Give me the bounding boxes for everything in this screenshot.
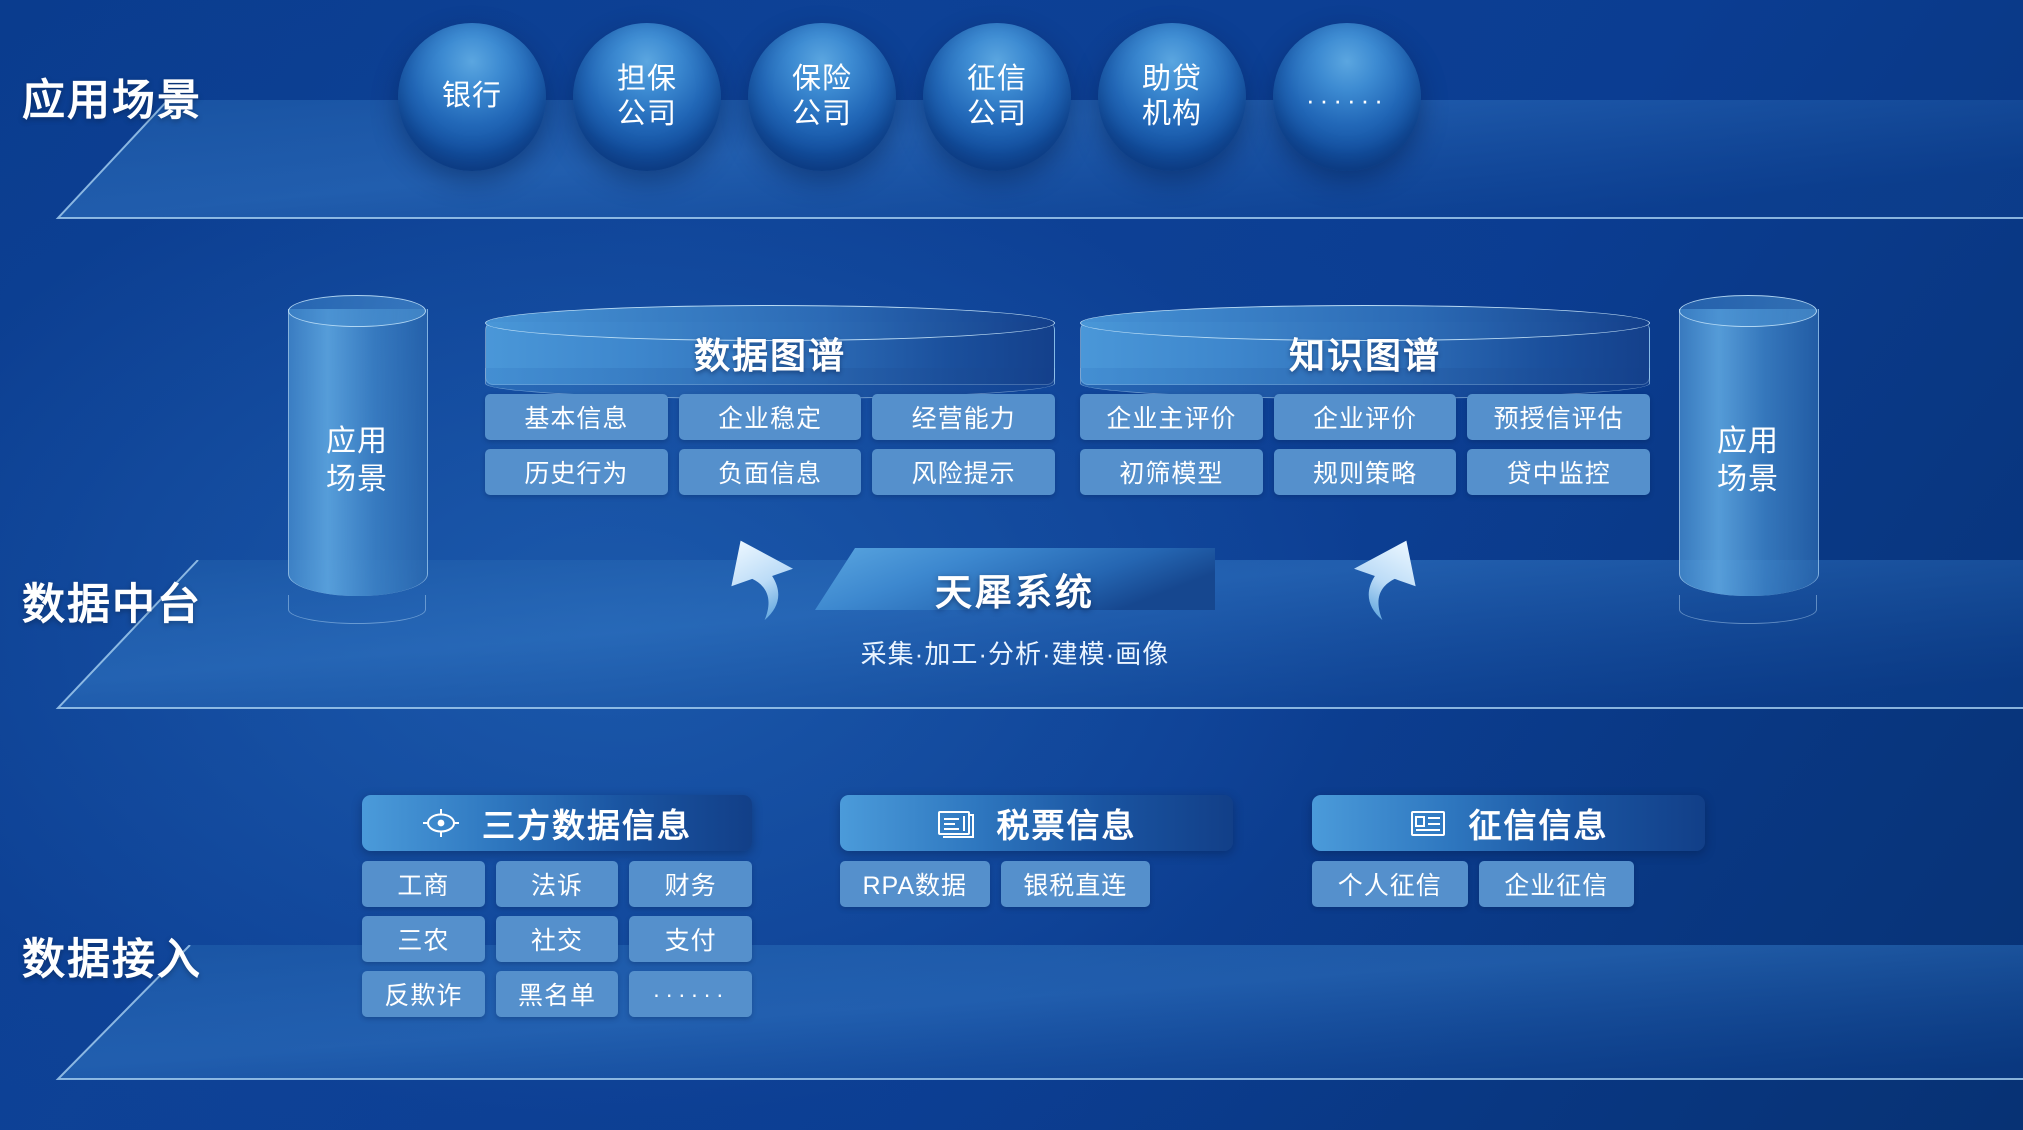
sphere-label-line2: 公司: [617, 97, 677, 132]
tag-grid-knowledge-graph: 企业主评价 企业评价 预授信评估 初筛模型 规则策略 贷中监控: [1080, 394, 1650, 495]
core-shape: 天犀系统: [815, 548, 1215, 620]
sphere-guarantee-company[interactable]: 担保 公司: [573, 23, 721, 171]
tag-blacklist[interactable]: 黑名单: [496, 971, 619, 1017]
group-title: 三方数据信息: [482, 799, 692, 847]
arrow-up-right-icon: [1325, 525, 1435, 625]
arrow-up-left-icon: [712, 525, 822, 625]
tag-operating-capability[interactable]: 经营能力: [872, 394, 1055, 440]
invoice-icon: [937, 806, 975, 840]
tag-pre-credit-assessment[interactable]: 预授信评估: [1467, 394, 1650, 440]
tag-personal-credit[interactable]: 个人征信: [1312, 861, 1468, 907]
tag-litigation[interactable]: 法诉: [496, 861, 619, 907]
pillar-label: 应用 场景: [1679, 423, 1817, 500]
layer-label-application: 应用场景: [22, 66, 202, 128]
sphere-label-line2: 机构: [1142, 97, 1202, 132]
layer-label-ingest: 数据接入: [22, 925, 202, 987]
pillar-bottom-arc: [1679, 595, 1817, 624]
sphere-label-line1: ······: [1306, 85, 1388, 117]
tag-enterprise-credit[interactable]: 企业征信: [1479, 861, 1635, 907]
drum-title: 数据图谱: [694, 327, 846, 379]
pillar-cap: [1679, 295, 1817, 327]
core-subtitle: 采集·加工·分析·建模·画像: [775, 634, 1255, 671]
id-card-icon: [1409, 806, 1447, 840]
tag-bank-tax-link[interactable]: 银税直连: [1001, 861, 1151, 907]
sphere-label-line1: 担保: [617, 62, 677, 97]
tag-screening-model[interactable]: 初筛模型: [1080, 449, 1263, 495]
group-tags-tax-invoice: RPA数据 银税直连: [840, 861, 1150, 907]
group-third-party-data: 三方数据信息 工商 法诉 财务 三农 社交 支付 反欺诈 黑名单 ······: [362, 795, 752, 1017]
sphere-label-line1: 保险: [792, 62, 852, 97]
tag-grid-data-graph: 基本信息 企业稳定 经营能力 历史行为 负面信息 风险提示: [485, 394, 1055, 495]
left-application-pillar: 应用 场景: [288, 295, 426, 610]
core-system[interactable]: 天犀系统 采集·加工·分析·建模·画像: [815, 548, 1215, 620]
tag-payment[interactable]: 支付: [629, 916, 752, 962]
group-tags-third-party-data: 工商 法诉 财务 三农 社交 支付 反欺诈 黑名单 ······: [362, 861, 752, 1017]
drum-data-graph[interactable]: 数据图谱: [485, 322, 1055, 385]
tag-negative-info[interactable]: 负面信息: [679, 449, 862, 495]
tag-anti-fraud[interactable]: 反欺诈: [362, 971, 485, 1017]
tag-business-registration[interactable]: 工商: [362, 861, 485, 907]
group-credit-report: 征信信息 个人征信 企业征信: [1312, 795, 1705, 907]
drum-title: 知识图谱: [1289, 327, 1441, 379]
tag-history-behavior[interactable]: 历史行为: [485, 449, 668, 495]
group-tags-credit-report: 个人征信 企业征信: [1312, 861, 1634, 907]
target-icon: [422, 806, 460, 840]
sphere-bank[interactable]: 银行: [398, 23, 546, 171]
drum-body: 知识图谱: [1080, 322, 1650, 385]
sphere-label-line2: 公司: [967, 97, 1027, 132]
drum-body: 数据图谱: [485, 322, 1055, 385]
architecture-diagram: 应用场景 银行 担保 公司 保险 公司 征信 公司: [0, 0, 2023, 1130]
group-header-credit-report[interactable]: 征信信息: [1312, 795, 1705, 851]
group-title: 税票信息: [997, 799, 1137, 847]
sphere-label-line1: 银行: [442, 79, 502, 114]
tag-basic-info[interactable]: 基本信息: [485, 394, 668, 440]
pillar-label: 应用 场景: [288, 423, 426, 500]
tag-enterprise-evaluation[interactable]: 企业评价: [1274, 394, 1457, 440]
sphere-more[interactable]: ······: [1273, 23, 1421, 171]
tag-loan-monitoring[interactable]: 贷中监控: [1467, 449, 1650, 495]
pillar-bottom-arc: [288, 595, 426, 624]
group-title: 征信信息: [1469, 799, 1609, 847]
tag-finance[interactable]: 财务: [629, 861, 752, 907]
tag-risk-alert[interactable]: 风险提示: [872, 449, 1055, 495]
right-application-pillar: 应用 场景: [1679, 295, 1817, 610]
core-title: 天犀系统: [815, 562, 1215, 616]
layer-label-platform: 数据中台: [22, 570, 202, 632]
pillar-cap: [288, 295, 426, 327]
sphere-insurance-company[interactable]: 保险 公司: [748, 23, 896, 171]
ingest-layer-platform: [0, 945, 2023, 1090]
sphere-credit-company[interactable]: 征信 公司: [923, 23, 1071, 171]
tag-rule-strategy[interactable]: 规则策略: [1274, 449, 1457, 495]
tag-agriculture[interactable]: 三农: [362, 916, 485, 962]
sphere-label-line2: 公司: [792, 97, 852, 132]
sphere-loan-facilitation[interactable]: 助贷 机构: [1098, 23, 1246, 171]
sphere-label-line1: 助贷: [1142, 62, 1202, 97]
tag-enterprise-stability[interactable]: 企业稳定: [679, 394, 862, 440]
group-header-third-party-data[interactable]: 三方数据信息: [362, 795, 752, 851]
drum-knowledge-graph[interactable]: 知识图谱: [1080, 322, 1650, 385]
group-header-tax-invoice[interactable]: 税票信息: [840, 795, 1233, 851]
sphere-label-line1: 征信: [967, 62, 1027, 97]
tag-owner-evaluation[interactable]: 企业主评价: [1080, 394, 1263, 440]
group-tax-invoice: 税票信息 RPA数据 银税直连: [840, 795, 1233, 907]
application-scene-spheres: 银行 担保 公司 保险 公司 征信 公司 助贷 机构: [398, 23, 1421, 171]
tag-social[interactable]: 社交: [496, 916, 619, 962]
tag-rpa-data[interactable]: RPA数据: [840, 861, 990, 907]
tag-more[interactable]: ······: [629, 971, 752, 1017]
